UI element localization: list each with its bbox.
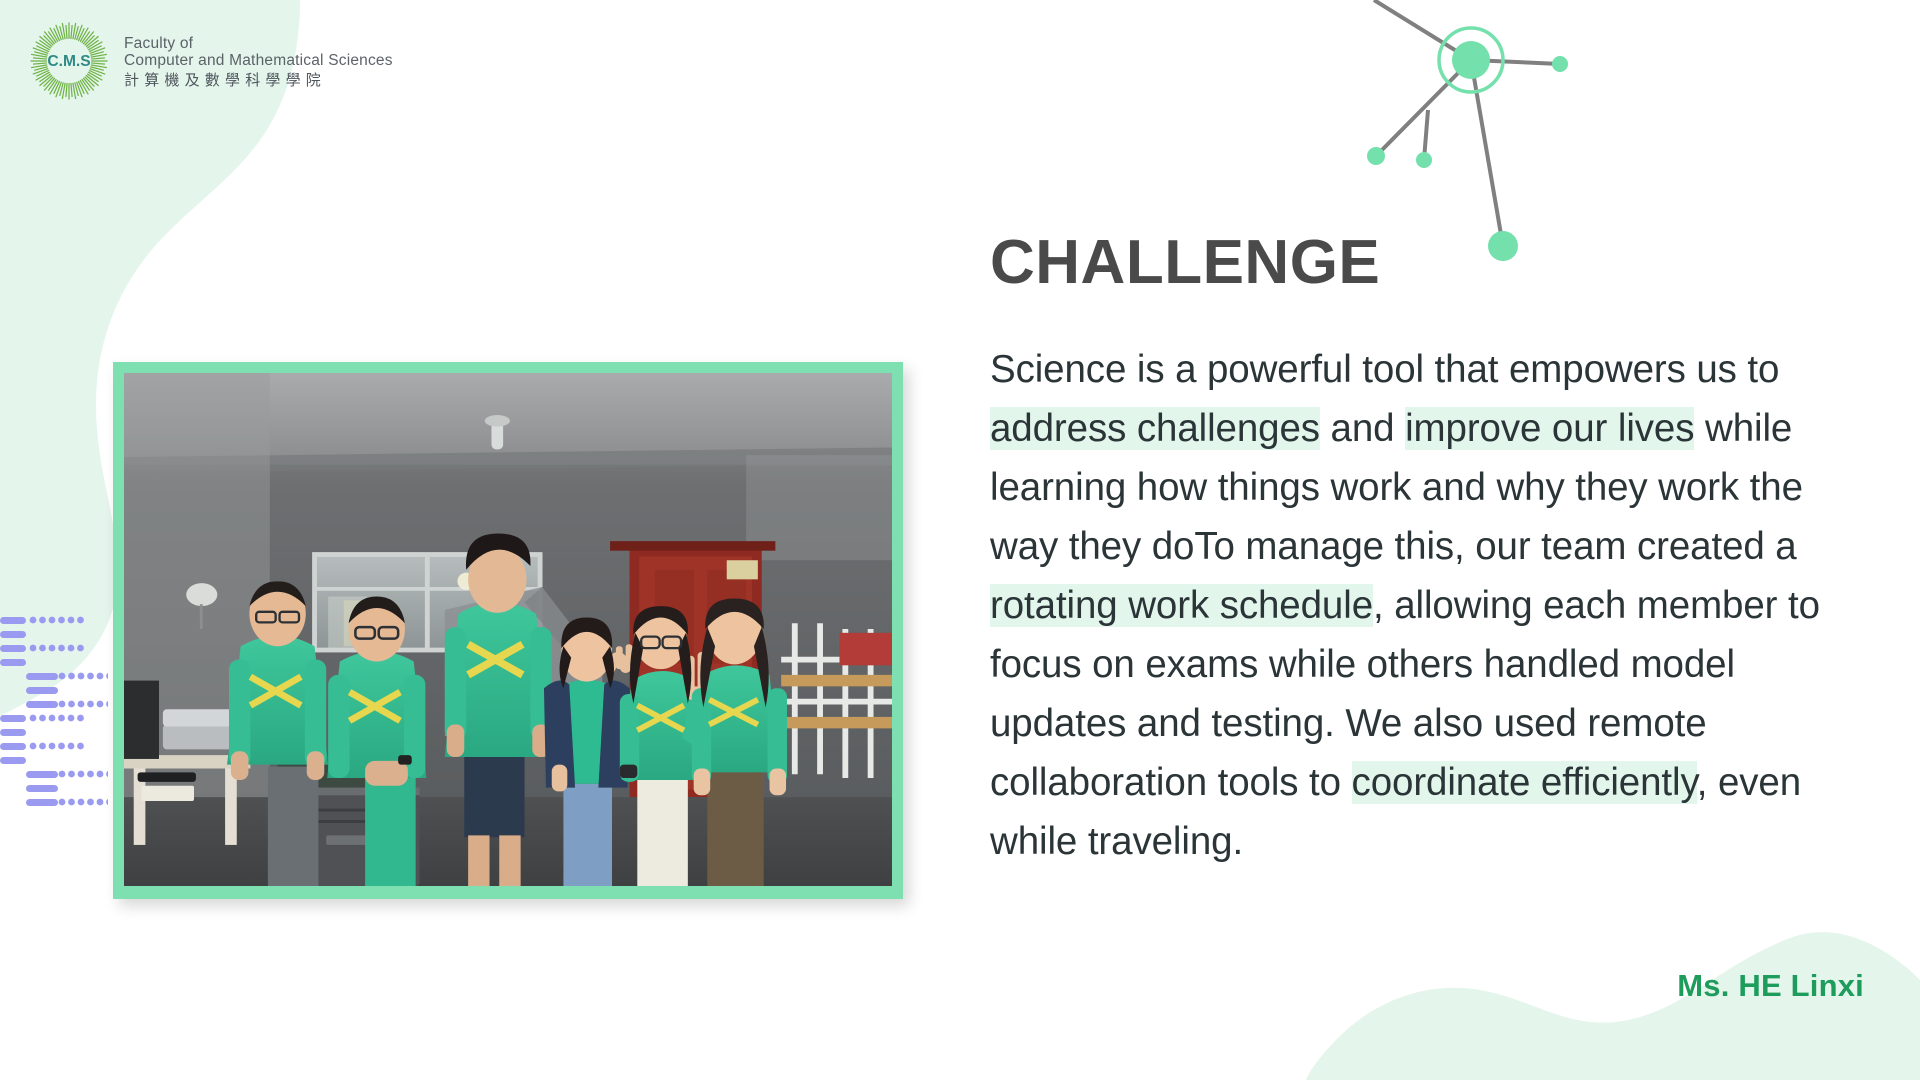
body-highlight-phrase: address challenges [990,407,1320,450]
content-column: CHALLENGE Science is a powerful tool tha… [990,232,1862,871]
body-highlight-phrase: improve our lives [1405,407,1694,450]
motif-dot [87,673,94,680]
network-node [1367,147,1385,165]
motif-dot [49,645,56,652]
logo-line-cjk: 計算機及數學科學學院 [124,71,393,90]
slide-canvas: C.M.S Faculty of Computer and Mathematic… [0,0,1920,1080]
motif-dot [68,645,75,652]
cms-logo-lockup: C.M.S Faculty of Computer and Mathematic… [28,20,393,102]
presenter-byline: Ms. HE Linxi [1677,968,1864,1004]
body-text-run: and [1320,407,1405,450]
motif-dot [78,701,85,708]
motif-dot [78,799,85,806]
motif-dot [59,799,66,806]
motif-dot [68,617,75,624]
motif-dot [68,673,75,680]
bar-dot-pattern-decoration [0,610,108,820]
motif-dot [39,645,46,652]
motif-dot [59,771,66,778]
motif-bar [26,673,58,680]
motif-dot [106,673,108,680]
body-paragraph: Science is a powerful tool that empowers… [990,340,1862,871]
motif-bar [26,785,58,792]
motif-dot [58,743,65,750]
network-node [1452,41,1490,79]
motif-dot [39,617,46,624]
motif-dot [87,701,94,708]
motif-dot [68,799,75,806]
page-title: CHALLENGE [990,232,1862,294]
motif-bar [26,701,58,708]
motif-bar [26,687,58,694]
motif-dot [77,743,84,750]
motif-dot [59,701,66,708]
motif-bar [0,617,26,624]
motif-dot [58,715,65,722]
motif-dot [30,743,37,750]
motif-dot [106,701,108,708]
motif-bar [0,715,26,722]
motif-dot [68,771,75,778]
network-node [1416,152,1432,168]
motif-dot [39,715,46,722]
motif-dot [68,701,75,708]
motif-dot [97,771,104,778]
team-photo [124,373,892,886]
motif-dot [77,617,84,624]
motif-dot [106,771,108,778]
motif-dot [30,645,37,652]
body-text-run: Science is a powerful tool that empowers… [990,348,1779,391]
motif-dot [59,673,66,680]
motif-bar [0,631,26,638]
motif-dot [87,771,94,778]
motif-bar [0,757,26,764]
motif-dot [106,799,108,806]
logo-line-1: Faculty of [124,35,393,53]
motif-dot [30,617,37,624]
motif-bar [0,659,26,666]
motif-bar [26,799,58,806]
motif-dot [77,715,84,722]
motif-bar [0,729,26,736]
body-highlight-phrase: rotating work schedule [990,584,1373,627]
motif-dot [58,645,65,652]
photo-frame [113,362,903,899]
logo-mark-text: C.M.S [47,53,90,70]
motif-dot [78,771,85,778]
motif-dot [97,799,104,806]
motif-dot [68,743,75,750]
motif-bar [0,645,26,652]
motif-dot [49,617,56,624]
motif-dot [30,715,37,722]
motif-dot [49,743,56,750]
network-node [1552,56,1568,72]
motif-dot [87,799,94,806]
motif-dot [97,701,104,708]
sunburst-radial-logo-icon: C.M.S [28,20,110,102]
motif-dot [97,673,104,680]
logo-wordmark: Faculty of Computer and Mathematical Sci… [124,33,393,90]
motif-bar [26,771,58,778]
mint-blob-bottom-right [1306,932,1920,1080]
motif-dot [39,743,46,750]
motif-dot [49,715,56,722]
motif-dot [78,673,85,680]
motif-bar [0,743,26,750]
logo-line-2: Computer and Mathematical Sciences [124,52,393,70]
motif-dot [68,715,75,722]
motif-dot [77,645,84,652]
motif-dot [58,617,65,624]
body-highlight-phrase: coordinate efficiently [1352,761,1697,804]
